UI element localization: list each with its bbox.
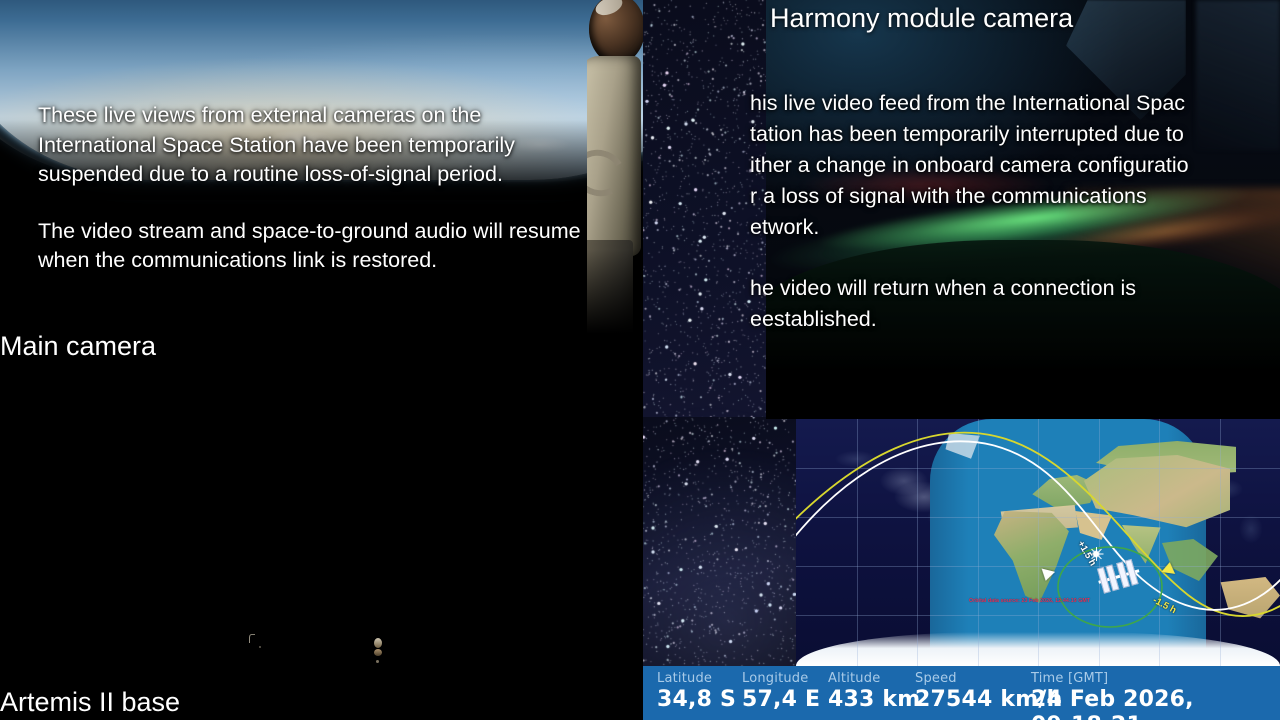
harmony-line: tation has been temporarily interrupted … (750, 122, 1184, 146)
telemetry-value: 57,4 E (742, 687, 820, 713)
telemetry-field: Time [GMT]24 Feb 2026, 09:18:21 (1031, 671, 1280, 720)
main-camera-status-message: These live views from external cameras o… (38, 101, 598, 276)
gridline-vertical (1220, 419, 1221, 666)
telemetry-bar: Latitude34,8 SLongitude57,4 EAltitude433… (643, 666, 1280, 720)
harmony-line: etwork. (750, 215, 819, 239)
gridline-vertical (1099, 419, 1100, 666)
gridline-horizontal (796, 615, 1280, 616)
telemetry-field: Longitude57,4 E (742, 671, 820, 713)
gridline-vertical (1159, 419, 1160, 666)
gridline-vertical (1038, 419, 1039, 666)
harmony-message-paragraph-1: his live video feed from the Internation… (750, 88, 1280, 243)
telemetry-value: 433 km (828, 687, 920, 713)
telemetry-label: Longitude (742, 671, 820, 686)
iss-live-stream-screen: These live views from external cameras o… (0, 0, 1280, 720)
telemetry-field: Latitude34,8 S (657, 671, 736, 713)
artemis-base-label: Artemis II base (0, 687, 180, 717)
starfield-strip-lower (643, 417, 796, 666)
harmony-camera-label: Harmony module camera (770, 3, 1073, 33)
distant-object (259, 646, 261, 648)
harmony-line: his live video feed from the Internation… (750, 91, 1185, 115)
distant-object (374, 649, 382, 656)
telemetry-field: Altitude433 km (828, 671, 920, 713)
harmony-camera-status-message: his live video feed from the Internation… (750, 88, 1280, 335)
gridline-horizontal (796, 468, 1280, 469)
harmony-message-paragraph-2: he video will return when a connection i… (750, 273, 1280, 335)
telemetry-value: 24 Feb 2026, 09:18:21 (1031, 687, 1280, 720)
yellow-triangle-icon (1161, 561, 1176, 574)
sun-icon (1089, 547, 1103, 561)
distant-object (376, 660, 379, 663)
distant-object (374, 638, 382, 648)
distant-object (249, 634, 255, 643)
telemetry-label: Latitude (657, 671, 736, 686)
gridline-vertical (917, 419, 918, 666)
telemetry-value: 34,8 S (657, 687, 736, 713)
telemetry-label: Time [GMT] (1031, 671, 1280, 686)
gridline-vertical (857, 419, 858, 666)
main-message-paragraph-2: The video stream and space-to-ground aud… (38, 217, 598, 276)
harmony-line: r a loss of signal with the communicatio… (750, 184, 1147, 208)
gridline-horizontal (796, 566, 1280, 567)
main-message-paragraph-1: These live views from external cameras o… (38, 101, 598, 190)
telemetry-label: Altitude (828, 671, 920, 686)
harmony-line: he video will return when a connection i… (750, 276, 1136, 300)
gridline-horizontal (796, 517, 1280, 518)
iss-tracker-map[interactable] (796, 419, 1280, 666)
harmony-line: eestablished. (750, 307, 877, 331)
harmony-line: ither a change in onboard camera configu… (750, 153, 1189, 177)
main-camera-label: Main camera (0, 331, 156, 361)
gridline-vertical (978, 419, 979, 666)
star-canvas (643, 417, 796, 666)
